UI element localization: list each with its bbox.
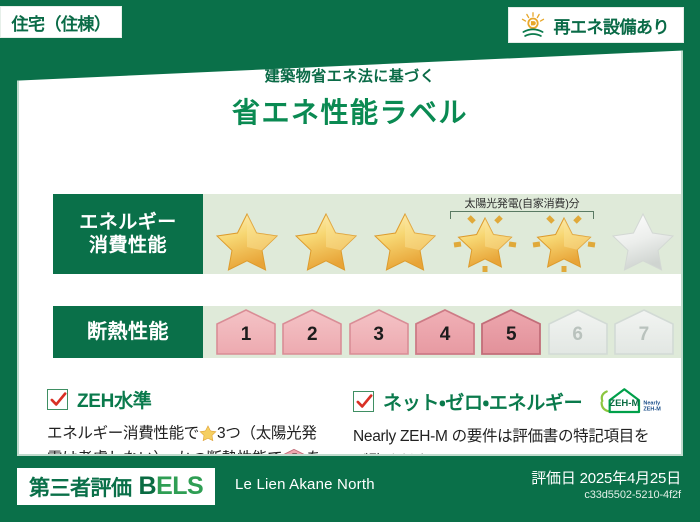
net-zero-checkbox[interactable] — [353, 391, 374, 412]
star-4-solar — [451, 207, 519, 273]
zeh-description: エネルギー消費性能で3つ（太陽光発電は考慮しない）、かつ断熱性能で5を達成 — [47, 421, 329, 456]
svg-text:ZEH-M: ZEH-M — [644, 407, 662, 413]
check-icon — [49, 390, 68, 409]
title-main: 省エネ性能ラベル — [19, 91, 681, 131]
info-column-net-zero: ネット・ゼロ・エネルギー ZEH-M Nearly ZEH-M Nearly Z… — [353, 386, 659, 456]
insulation-level-7: 7 — [613, 309, 675, 355]
zeh-m-logo-icon: ZEH-M Nearly ZEH-M — [595, 386, 661, 416]
sun-icon — [519, 11, 547, 39]
insulation-level-5-value: 5 — [480, 325, 542, 344]
insulation-level-scale: 1 2 3 — [215, 306, 675, 358]
page-title: 建築物省エネ法に基づく 省エネ性能ラベル — [19, 65, 681, 131]
insulation-level-4-value: 4 — [414, 325, 476, 344]
insulation-level-5-achieved: 5 — [480, 309, 542, 355]
zeh-heading: ZEH水準 — [47, 386, 329, 413]
insulation-level-6: 6 — [547, 309, 609, 355]
category-tag: 住宅（住棟） — [0, 6, 122, 38]
check-icon — [355, 392, 374, 411]
energy-label-line1: エネルギー — [79, 211, 177, 234]
insulation-level-2-value: 2 — [281, 325, 343, 344]
star-1 — [213, 207, 281, 273]
bels-letter-b: B — [139, 472, 157, 500]
star-3 — [371, 207, 439, 273]
bels-jp-label: 第三者評価 — [29, 472, 132, 502]
category-tag-label: 住宅（住棟） — [12, 10, 111, 35]
evaluation-id: c33d5502-5210-4f2f — [584, 489, 681, 501]
insulation-level-3: 3 — [348, 309, 410, 355]
insulation-level-1: 1 — [215, 309, 277, 355]
evaluation-date: 評価日 2025年4月25日 — [531, 467, 681, 488]
star-5-solar — [530, 207, 598, 273]
net-zero-heading: ネット・ゼロ・エネルギー ZEH-M Nearly ZEH-M — [353, 386, 659, 416]
bels-en-label: BELS — [139, 472, 204, 501]
insulation-performance-body: 1 2 3 — [203, 306, 683, 358]
bels-certification-badge: 第三者評価 BELS — [17, 468, 215, 505]
energy-performance-body: 太陽光発電(自家消費)分 — [203, 194, 683, 274]
net-zero-description: Nearly ZEH-M の要件は評価書の特記項目をご覧ください。 — [353, 424, 659, 456]
star-rating — [213, 208, 677, 272]
svg-text:ZEH-M: ZEH-M — [610, 398, 640, 409]
insulation-level-4: 4 — [414, 309, 476, 355]
svg-text:Nearly: Nearly — [644, 401, 662, 407]
renewable-energy-badge: 再エネ設備あり — [508, 7, 685, 43]
star-2 — [292, 207, 360, 273]
inline-star-icon — [199, 424, 217, 442]
insulation-level-7-value: 7 — [613, 325, 675, 344]
insulation-performance-label: 断熱性能 — [53, 306, 203, 358]
insulation-level-2: 2 — [281, 309, 343, 355]
zeh-description-pre: エネルギー消費性能で — [47, 425, 199, 442]
project-name: Le Lien Akane North — [235, 476, 375, 493]
zeh-checkbox[interactable] — [47, 389, 68, 410]
net-zero-title: ネット・ゼロ・エネルギー — [383, 388, 582, 415]
insulation-performance-row: 断熱性能 1 — [53, 306, 683, 358]
star-6-empty — [609, 207, 677, 273]
title-subtitle: 建築物省エネ法に基づく — [19, 65, 681, 86]
energy-performance-label: エネルギー 消費性能 — [53, 194, 203, 274]
bels-letters-els: ELS — [156, 472, 203, 500]
label-content-panel: 建築物省エネ法に基づく 省エネ性能ラベル エネルギー 消費性能 太陽光発電(自家… — [17, 38, 683, 456]
insulation-label-text: 断熱性能 — [87, 320, 169, 344]
info-columns: ZEH水準 エネルギー消費性能で3つ（太陽光発電は考慮しない）、かつ断熱性能で5… — [47, 386, 659, 456]
insulation-level-1-value: 1 — [215, 325, 277, 344]
bels-energy-label: 住宅（住棟） 再エネ設備あり 建築物省エネ法に基づく — [0, 0, 700, 522]
insulation-level-3-value: 3 — [348, 325, 410, 344]
energy-label-line2: 消費性能 — [89, 234, 167, 257]
renewable-badge-label: 再エネ設備あり — [554, 13, 670, 38]
footer: 第三者評価 BELS Le Lien Akane North 評価日 2025年… — [0, 456, 700, 522]
info-column-zeh: ZEH水準 エネルギー消費性能で3つ（太陽光発電は考慮しない）、かつ断熱性能で5… — [47, 386, 329, 456]
inline-house-badge: 5 — [282, 448, 306, 456]
zeh-title: ZEH水準 — [77, 386, 152, 413]
insulation-level-6-value: 6 — [547, 325, 609, 344]
energy-performance-row: エネルギー 消費性能 太陽光発電(自家消費)分 — [53, 194, 683, 274]
